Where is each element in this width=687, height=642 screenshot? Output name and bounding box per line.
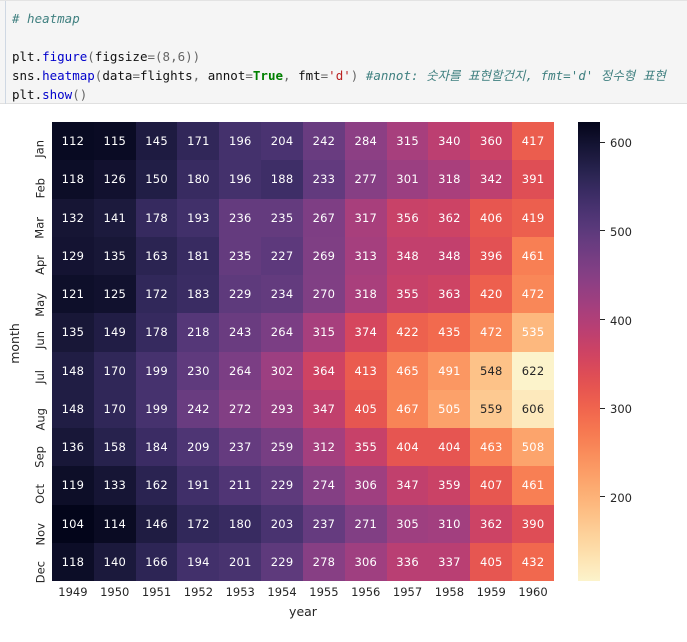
heatmap-cell: 336 <box>387 543 429 581</box>
heatmap-cell: 150 <box>136 160 178 198</box>
heatmap-cell: 422 <box>387 313 429 351</box>
x-axis-tick-labels: 1949195019511952195319541955195619571958… <box>52 585 554 603</box>
heatmap-cell: 148 <box>52 352 94 390</box>
matplotlib-figure: JanFebMarAprMayJunJulAugSepOctNovDec mon… <box>0 104 687 642</box>
heatmap-cell: 196 <box>219 160 261 198</box>
heatmap-cell: 229 <box>261 466 303 504</box>
x-tick-1949: 1949 <box>52 585 94 603</box>
code-token: figure <box>42 49 87 64</box>
x-tick-1957: 1957 <box>387 585 429 603</box>
heatmap-cell: 390 <box>512 505 554 543</box>
x-axis-title: year <box>52 604 554 619</box>
heatmap-cell: 313 <box>345 237 387 275</box>
y-tick-jul: Jul <box>6 364 46 378</box>
y-tick-nov: Nov <box>6 517 46 531</box>
y-tick-label: Oct <box>33 484 47 504</box>
x-tick-1953: 1953 <box>219 585 261 603</box>
code-token: 'd' <box>328 68 351 83</box>
heatmap-cell: 405 <box>345 390 387 428</box>
heatmap-cell: 359 <box>428 466 470 504</box>
heatmap-cell: 264 <box>261 313 303 351</box>
y-tick-label: Mar <box>33 217 47 239</box>
heatmap-cell: 112 <box>52 122 94 160</box>
heatmap-cell: 170 <box>94 352 136 390</box>
code-line-1: # heatmap <box>12 9 666 28</box>
heatmap-cell: 420 <box>470 275 512 313</box>
y-tick-sep: Sep <box>6 440 46 454</box>
heatmap-cell: 463 <box>470 428 512 466</box>
colorbar-tick-label: 500 <box>610 225 632 239</box>
heatmap-cell: 119 <box>52 466 94 504</box>
heatmap-cell: 267 <box>303 199 345 237</box>
heatmap-cell: 163 <box>136 237 178 275</box>
code-line-3: plt.figure(figsize=(8,6)) <box>12 47 666 66</box>
x-tick-1959: 1959 <box>470 585 512 603</box>
colorbar-tick-400: 400 <box>600 312 632 326</box>
heatmap-cell: 132 <box>52 199 94 237</box>
code-line-2 <box>12 28 666 47</box>
heatmap-cell: 199 <box>136 390 178 428</box>
heatmap-cell: 172 <box>177 505 219 543</box>
heatmap-cell: 465 <box>387 352 429 390</box>
heatmap-cell: 318 <box>428 160 470 198</box>
heatmap-cell: 136 <box>52 428 94 466</box>
heatmap-cell: 242 <box>177 390 219 428</box>
heatmap-cell: 115 <box>94 122 136 160</box>
heatmap-cell: 360 <box>470 122 512 160</box>
heatmap-cell: 278 <box>303 543 345 581</box>
heatmap-cell: 158 <box>94 428 136 466</box>
heatmap-cell: 104 <box>52 505 94 543</box>
heatmap-cell: 277 <box>345 160 387 198</box>
heatmap-cell: 135 <box>94 237 136 275</box>
heatmap-cell: 235 <box>261 199 303 237</box>
heatmap-cell: 362 <box>470 505 512 543</box>
heatmap-cell: 548 <box>470 352 512 390</box>
heatmap-cell: 148 <box>52 390 94 428</box>
code-token: = <box>132 68 140 83</box>
heatmap-cell: 242 <box>303 122 345 160</box>
code-line-4: sns.heatmap(data=flights, annot=True, fm… <box>12 66 666 85</box>
heatmap-cell: 274 <box>303 466 345 504</box>
heatmap-cell: 259 <box>261 428 303 466</box>
heatmap-cell: 118 <box>52 160 94 198</box>
heatmap-cell: 406 <box>470 199 512 237</box>
heatmap-cell: 404 <box>387 428 429 466</box>
heatmap-cell: 229 <box>261 543 303 581</box>
heatmap-cell: 162 <box>136 466 178 504</box>
heatmap-cell: 269 <box>303 237 345 275</box>
heatmap-cell: 301 <box>387 160 429 198</box>
heatmap-cell: 505 <box>428 390 470 428</box>
heatmap-cell: 310 <box>428 505 470 543</box>
y-tick-label: Apr <box>33 255 47 275</box>
y-tick-dec: Dec <box>6 555 46 569</box>
colorbar-tick-label: 300 <box>610 402 632 416</box>
heatmap-cell: 199 <box>136 352 178 390</box>
code-line-5: plt.show() <box>12 85 666 104</box>
y-tick-may: May <box>6 287 46 301</box>
code-cell[interactable]: # heatmap plt.figure(figsize=(8,6))sns.h… <box>0 0 687 104</box>
colorbar-tick-500: 500 <box>600 223 632 237</box>
heatmap-cell: 178 <box>136 199 178 237</box>
heatmap-cell: 347 <box>303 390 345 428</box>
code-token: # heatmap <box>12 11 80 26</box>
y-tick-label: May <box>33 293 47 317</box>
y-tick-label: Feb <box>33 178 47 198</box>
heatmap-cell: 121 <box>52 275 94 313</box>
heatmap-cell: 172 <box>136 275 178 313</box>
y-tick-label: Jan <box>33 140 47 158</box>
heatmap-cell: 407 <box>470 466 512 504</box>
code-token: plt. <box>12 49 42 64</box>
heatmap-cell: 149 <box>94 313 136 351</box>
y-tick-mar: Mar <box>6 211 46 225</box>
colorbar-tick-label: 200 <box>610 491 632 505</box>
heatmap-cell: 404 <box>428 428 470 466</box>
code-token: = <box>245 68 253 83</box>
y-axis-title: month <box>7 323 22 364</box>
heatmap-cell: 233 <box>303 160 345 198</box>
heatmap-cell: 272 <box>219 390 261 428</box>
heatmap-cell: 234 <box>261 275 303 313</box>
heatmap-cell: 118 <box>52 543 94 581</box>
heatmap-cell: 306 <box>345 466 387 504</box>
heatmap-cell: 125 <box>94 275 136 313</box>
heatmap-cell: 362 <box>428 199 470 237</box>
heatmap-cell: 606 <box>512 390 554 428</box>
heatmap-cell: 315 <box>303 313 345 351</box>
heatmap-cell: 135 <box>52 313 94 351</box>
heatmap-cell: 302 <box>261 352 303 390</box>
colorbar <box>578 122 600 581</box>
heatmap-cell: 126 <box>94 160 136 198</box>
colorbar-tick-labels: 200300400500600 <box>600 122 670 581</box>
code-source[interactable]: # heatmap plt.figure(figsize=(8,6))sns.h… <box>12 9 666 104</box>
code-token: True <box>253 68 283 83</box>
heatmap-cell: 227 <box>261 237 303 275</box>
heatmap-cell: 340 <box>428 122 470 160</box>
code-token: figsize <box>95 49 148 64</box>
heatmap-cell: 211 <box>219 466 261 504</box>
heatmap-cell: 114 <box>94 505 136 543</box>
heatmap-cell: 235 <box>219 237 261 275</box>
tick-mark-icon <box>600 230 605 231</box>
heatmap-cell: 435 <box>428 313 470 351</box>
code-token: , <box>170 49 178 64</box>
heatmap-cell: 342 <box>470 160 512 198</box>
tick-mark-icon <box>600 142 605 143</box>
y-tick-oct: Oct <box>6 478 46 492</box>
heatmap-cell: 145 <box>136 122 178 160</box>
heatmap-cell: 355 <box>345 428 387 466</box>
heatmap-cell: 432 <box>512 543 554 581</box>
heatmap-cell: 203 <box>261 505 303 543</box>
heatmap-cell: 467 <box>387 390 429 428</box>
code-token: ( <box>155 49 163 64</box>
heatmap-cell: 317 <box>345 199 387 237</box>
code-token: 6 <box>178 49 186 64</box>
code-token: show <box>42 87 72 102</box>
x-tick-1956: 1956 <box>345 585 387 603</box>
heatmap-cell: 194 <box>177 543 219 581</box>
heatmap-cell: 191 <box>177 466 219 504</box>
heatmap-cell: 391 <box>512 160 554 198</box>
heatmap-cell: 141 <box>94 199 136 237</box>
heatmap-cell: 318 <box>345 275 387 313</box>
code-token: plt. <box>12 87 42 102</box>
x-tick-1960: 1960 <box>512 585 554 603</box>
heatmap-cell: 355 <box>387 275 429 313</box>
heatmap-cell: 461 <box>512 466 554 504</box>
heatmap-cell: 306 <box>345 543 387 581</box>
tick-mark-icon <box>600 408 605 409</box>
heatmap-cell: 396 <box>470 237 512 275</box>
heatmap-cell: 559 <box>470 390 512 428</box>
heatmap-cell: 201 <box>219 543 261 581</box>
heatmap-cell: 312 <box>303 428 345 466</box>
heatmap-cell: 188 <box>261 160 303 198</box>
heatmap-cell: 140 <box>94 543 136 581</box>
heatmap-cell: 337 <box>428 543 470 581</box>
heatmap-cell: 293 <box>261 390 303 428</box>
colorbar-tick-200: 200 <box>600 489 632 503</box>
heatmap-cell: 178 <box>136 313 178 351</box>
heatmap-cell: 419 <box>512 199 554 237</box>
heatmap-cell: 237 <box>303 505 345 543</box>
heatmap-cell: 218 <box>177 313 219 351</box>
heatmap-cell: 193 <box>177 199 219 237</box>
x-tick-1955: 1955 <box>303 585 345 603</box>
heatmap-cell: 171 <box>177 122 219 160</box>
heatmap-cell: 181 <box>177 237 219 275</box>
heatmap-cell: 183 <box>177 275 219 313</box>
y-tick-label: Sep <box>33 446 47 468</box>
heatmap-cell: 364 <box>303 352 345 390</box>
heatmap-cell: 413 <box>345 352 387 390</box>
heatmap-cell: 472 <box>470 313 512 351</box>
x-tick-1950: 1950 <box>94 585 136 603</box>
code-token: 8 <box>163 49 171 64</box>
code-token: ) <box>351 68 366 83</box>
heatmap-cell: 146 <box>136 505 178 543</box>
heatmap-cell: 237 <box>219 428 261 466</box>
heatmap-cell: 461 <box>512 237 554 275</box>
heatmap-cell: 180 <box>177 160 219 198</box>
x-tick-1958: 1958 <box>428 585 470 603</box>
heatmap-cell: 417 <box>512 122 554 160</box>
y-tick-apr: Apr <box>6 249 46 263</box>
heatmap-cell: 405 <box>470 543 512 581</box>
code-token: , <box>283 68 298 83</box>
code-token: () <box>72 87 87 102</box>
heatmap-cell: 196 <box>219 122 261 160</box>
x-tick-1951: 1951 <box>136 585 178 603</box>
heatmap-cell: 170 <box>94 390 136 428</box>
tick-mark-icon <box>600 319 605 320</box>
y-tick-aug: Aug <box>6 402 46 416</box>
code-token: = <box>147 49 155 64</box>
heatmap-cell: 209 <box>177 428 219 466</box>
colorbar-tick-label: 400 <box>610 313 632 327</box>
y-tick-feb: Feb <box>6 172 46 186</box>
heatmap-cell: 363 <box>428 275 470 313</box>
heatmap-cell: 129 <box>52 237 94 275</box>
heatmap-cell: 622 <box>512 352 554 390</box>
heatmap-grid: 1121151451711962042422843153403604171181… <box>52 122 554 581</box>
x-tick-1954: 1954 <box>261 585 303 603</box>
y-tick-label: Jun <box>33 331 47 349</box>
heatmap-cell: 348 <box>428 237 470 275</box>
cell-left-border <box>5 1 6 105</box>
tick-mark-icon <box>600 496 605 497</box>
heatmap-cell: 133 <box>94 466 136 504</box>
heatmap-cell: 236 <box>219 199 261 237</box>
heatmap-cell: 315 <box>387 122 429 160</box>
code-token: flights <box>140 68 193 83</box>
heatmap-cell: 230 <box>177 352 219 390</box>
code-token: heatmap <box>42 68 95 83</box>
y-tick-label: Dec <box>33 561 47 583</box>
y-tick-label: Nov <box>33 523 47 545</box>
heatmap-cell: 374 <box>345 313 387 351</box>
heatmap-cell: 229 <box>219 275 261 313</box>
heatmap-cell: 472 <box>512 275 554 313</box>
heatmap-cell: 356 <box>387 199 429 237</box>
heatmap-cell: 491 <box>428 352 470 390</box>
code-token: #annot: 숫자를 표현할건지, fmt='d' 정수형 표현 <box>366 68 666 83</box>
colorbar-tick-600: 600 <box>600 134 632 148</box>
notebook-output-page: # heatmap plt.figure(figsize=(8,6))sns.h… <box>0 0 687 642</box>
heatmap-cell: 166 <box>136 543 178 581</box>
heatmap-cell: 347 <box>387 466 429 504</box>
code-token: sns. <box>12 68 42 83</box>
code-token: fmt <box>298 68 321 83</box>
heatmap-cell: 204 <box>261 122 303 160</box>
heatmap-cell: 184 <box>136 428 178 466</box>
heatmap-cell: 284 <box>345 122 387 160</box>
heatmap-cell: 243 <box>219 313 261 351</box>
code-token: , <box>193 68 208 83</box>
y-tick-jan: Jan <box>6 134 46 148</box>
y-tick-label: Jul <box>33 370 47 384</box>
heatmap-cell: 270 <box>303 275 345 313</box>
code-token: annot <box>208 68 246 83</box>
heatmap-cell: 305 <box>387 505 429 543</box>
heatmap-cell: 508 <box>512 428 554 466</box>
heatmap-cell: 264 <box>219 352 261 390</box>
x-tick-1952: 1952 <box>177 585 219 603</box>
code-token: )) <box>185 49 200 64</box>
heatmap-cell: 535 <box>512 313 554 351</box>
code-token: ( <box>87 49 95 64</box>
heatmap-cell: 348 <box>387 237 429 275</box>
heatmap-cell: 271 <box>345 505 387 543</box>
y-tick-label: Aug <box>33 408 47 430</box>
colorbar-tick-300: 300 <box>600 400 632 414</box>
code-token: data <box>102 68 132 83</box>
heatmap-cell: 180 <box>219 505 261 543</box>
colorbar-tick-label: 600 <box>610 136 632 150</box>
